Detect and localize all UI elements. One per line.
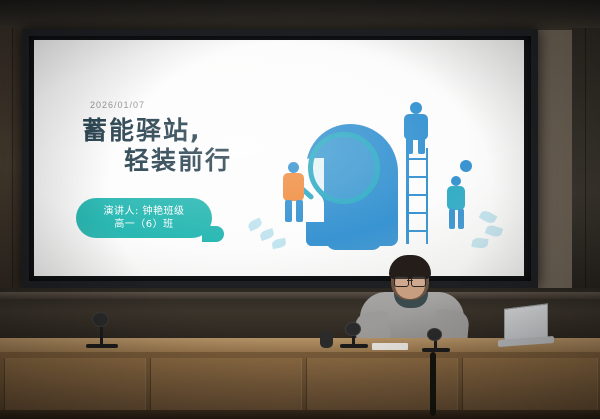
projection-screen-surface: 2026/01/07 蓄能驿站, 轻装前行 演讲人: 钟艳班级 高一（6）班 bbox=[34, 40, 524, 276]
magnifier-icon bbox=[308, 132, 380, 204]
speaker-class: 高一（6）班 bbox=[114, 218, 173, 232]
leaf-decoration bbox=[271, 238, 286, 249]
slide-title-line1: 蓄能驿站, bbox=[82, 116, 202, 145]
slide-title: 蓄能驿站, 轻装前行 bbox=[82, 118, 232, 175]
leaf-decoration bbox=[485, 224, 503, 239]
desk-panel-section bbox=[150, 358, 302, 414]
desk-panel-section bbox=[4, 358, 146, 414]
ceiling-band bbox=[0, 0, 600, 30]
photo-scene: 2026/01/07 蓄能驿站, 轻装前行 演讲人: 钟艳班级 高一（6）班 bbox=[0, 0, 600, 419]
head-neck-illustration bbox=[326, 226, 382, 250]
desk-panel-section bbox=[462, 358, 598, 414]
leaf-decoration bbox=[479, 209, 498, 226]
leaf-decoration bbox=[259, 228, 275, 241]
cup bbox=[320, 332, 333, 348]
cable bbox=[430, 352, 436, 416]
leaf-decoration bbox=[247, 217, 263, 231]
ladder-illustration bbox=[406, 148, 428, 244]
wall-panel-right bbox=[572, 28, 600, 303]
floor-strip bbox=[0, 410, 600, 419]
slide-date: 2026/01/07 bbox=[90, 100, 145, 110]
glasses-icon bbox=[394, 276, 426, 285]
wall-seam bbox=[585, 28, 586, 303]
speaker-pill: 演讲人: 钟艳班级 高一（6）班 bbox=[76, 198, 212, 238]
wall-highlight-strip bbox=[0, 292, 600, 299]
paper-sheet bbox=[372, 343, 408, 350]
leaf-decoration bbox=[471, 237, 488, 249]
slide-title-line2: 轻装前行 bbox=[124, 148, 232, 174]
wall-seam bbox=[12, 28, 13, 303]
speaker-label: 演讲人: 钟艳班级 bbox=[103, 205, 184, 219]
